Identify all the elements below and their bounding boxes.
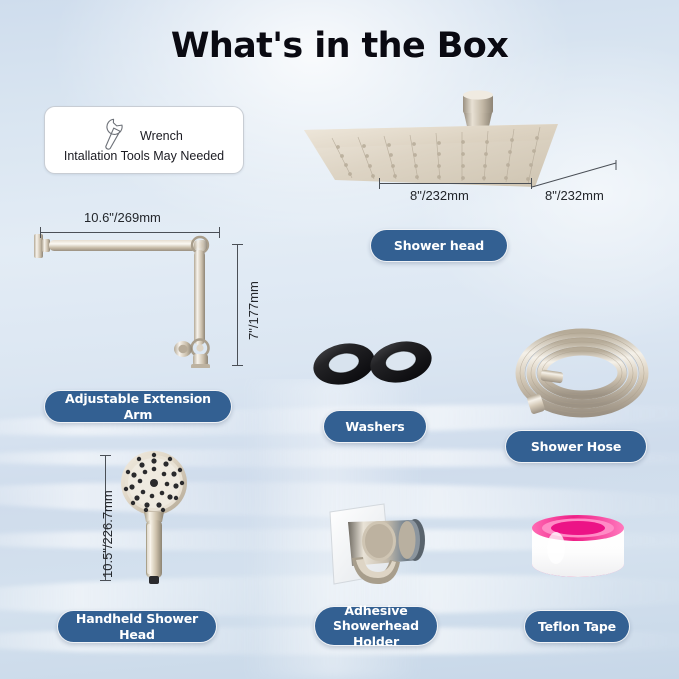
- shower-head-depth-line: [531, 160, 623, 190]
- dim-tick: [100, 455, 111, 456]
- label-shower-hose[interactable]: Shower Hose: [505, 430, 647, 463]
- extension-arm-length-label: 10.6"/269mm: [84, 210, 161, 225]
- label-washers[interactable]: Washers: [323, 410, 427, 443]
- shower-head-width-line: [379, 183, 532, 184]
- holder-label-line2: Showerhead Holder: [321, 618, 431, 649]
- label-teflon-tape[interactable]: Teflon Tape: [524, 610, 630, 643]
- label-adhesive-showerhead-holder[interactable]: Adhesive Showerhead Holder: [314, 606, 438, 646]
- dim-tick: [232, 365, 243, 366]
- label-adjustable-extension-arm[interactable]: Adjustable Extension Arm: [44, 390, 232, 423]
- dim-tick: [232, 244, 243, 245]
- extension-arm-height-line: [237, 244, 238, 366]
- dim-tick: [379, 178, 380, 189]
- dim-tick: [219, 227, 220, 238]
- page-title: What's in the Box: [0, 26, 679, 66]
- shower-hose-image: [513, 323, 651, 428]
- shower-head-image: [292, 86, 570, 196]
- handheld-height-label: 10.5"/226.7mm: [100, 490, 115, 578]
- extension-arm-length-line: [40, 232, 220, 233]
- adhesive-showerhead-holder-image: [322, 500, 440, 598]
- wrench-label: Wrench: [140, 129, 183, 143]
- dim-tick: [40, 227, 41, 238]
- handheld-shower-head-image: [106, 448, 206, 588]
- washers-image: [306, 338, 436, 392]
- label-shower-head[interactable]: Shower head: [370, 229, 508, 262]
- teflon-tape-image: [522, 508, 634, 588]
- label-handheld-shower-head[interactable]: Handheld Shower Head: [57, 610, 217, 643]
- shower-head-depth-label: 8"/232mm: [545, 188, 604, 203]
- installation-note: Intallation Tools May Needed: [45, 149, 243, 163]
- dim-tick: [100, 580, 111, 581]
- extension-arm-height-label: 7"/177mm: [246, 281, 261, 340]
- infographic-canvas: What's in the Box Wrench Intallation Too…: [0, 0, 679, 679]
- holder-label-line1: Adhesive: [344, 603, 407, 618]
- installation-tools-box: Wrench Intallation Tools May Needed: [44, 106, 244, 174]
- shower-head-width-label: 8"/232mm: [410, 188, 469, 203]
- extension-arm-image: [30, 228, 230, 368]
